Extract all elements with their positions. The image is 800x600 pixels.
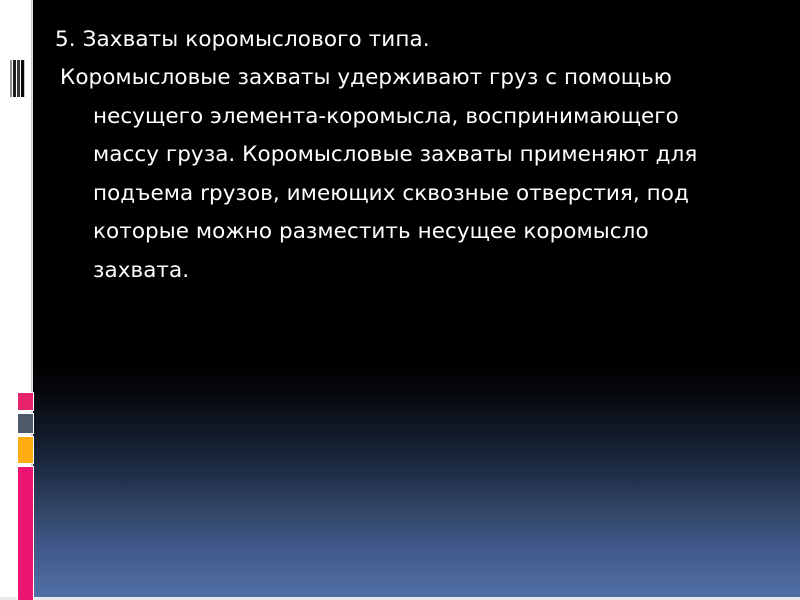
vertical-stripes-mark-icon	[9, 58, 26, 99]
slide-text-block: 5. Захваты коромыслового типа. Коромысло…	[55, 25, 745, 290]
chip-pink	[17, 392, 34, 411]
slide-title: 5. Захваты коромыслового типа.	[55, 25, 745, 55]
slide-body-paragraph: Коромысловые захваты удерживают груз с п…	[55, 59, 745, 290]
chip-amber	[17, 436, 34, 464]
color-chip-stack	[17, 392, 34, 600]
presentation-slide: 5. Захваты коромыслового типа. Коромысло…	[0, 0, 800, 600]
chip-slate	[17, 413, 34, 434]
stripe-bar	[24, 60, 25, 97]
chip-magenta	[17, 466, 34, 600]
